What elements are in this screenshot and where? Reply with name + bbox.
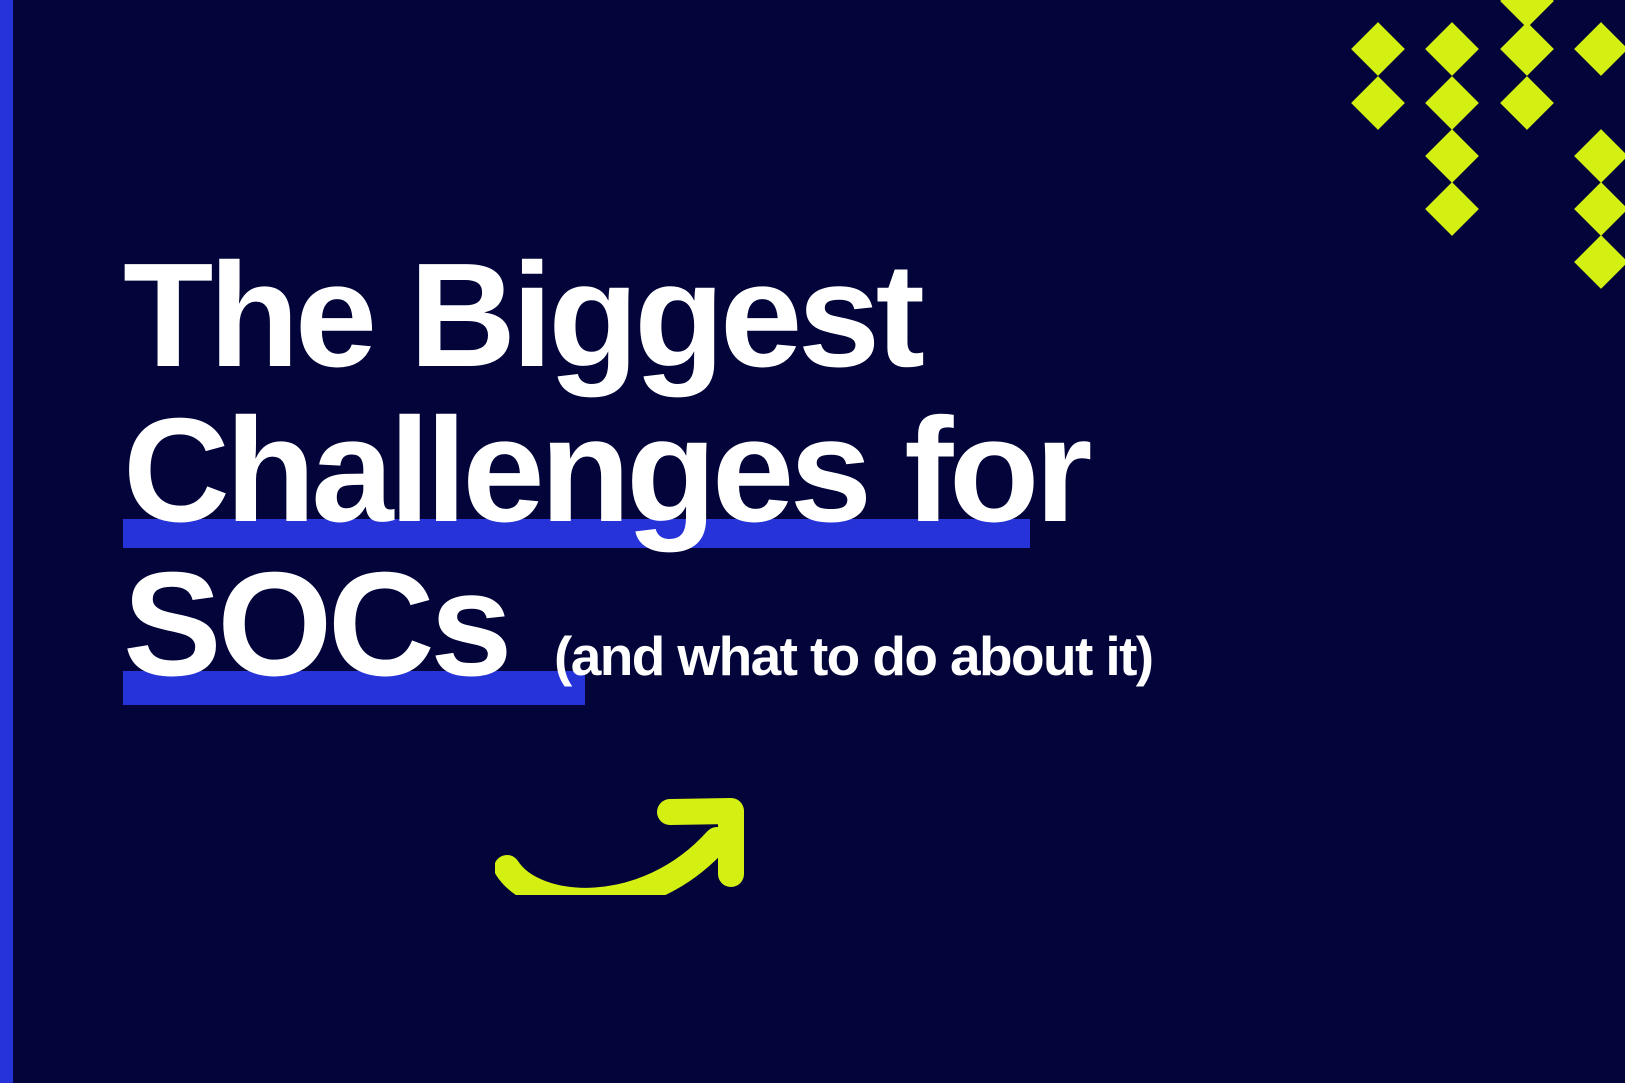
headline-line-1-text: The Biggest [123, 233, 920, 398]
headline-block: The Biggest Challenges for SOCs (and wha… [123, 246, 1463, 696]
left-accent-stripe [0, 0, 13, 1083]
subtitle-text: (and what to do about it) [554, 630, 1153, 682]
headline-line-2: Challenges for [123, 401, 1463, 542]
headline-line-3: SOCs (and what to do about it) [123, 555, 1463, 696]
headline-line-1: The Biggest [123, 246, 1463, 387]
poster-canvas: The Biggest Challenges for SOCs (and wha… [0, 0, 1625, 1083]
socs-wrapper: SOCs [123, 555, 508, 696]
headline-line-3-text: SOCs [123, 542, 508, 707]
headline-line-2-text: Challenges for [123, 388, 1088, 553]
